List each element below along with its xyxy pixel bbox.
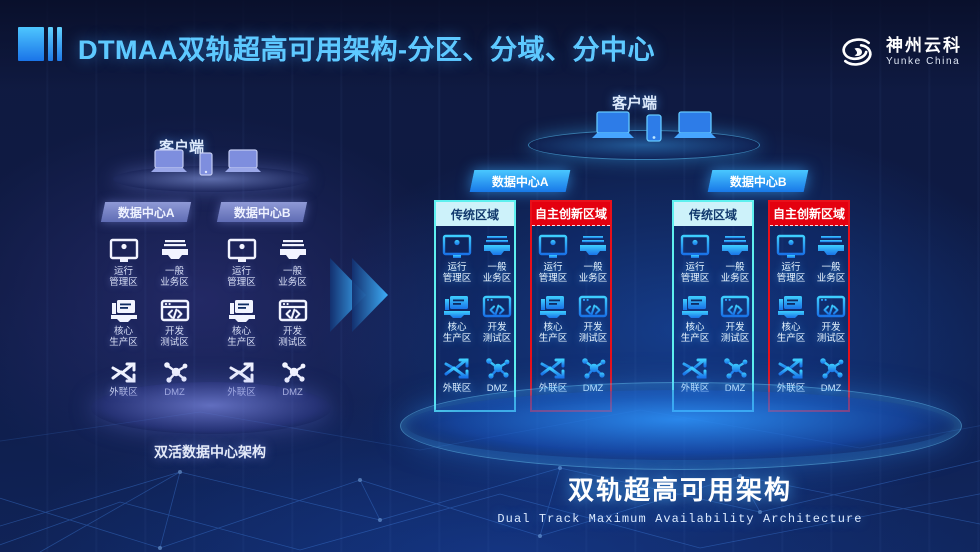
database-doc-icon [442,294,472,320]
inbox-tray-icon [720,234,750,260]
node-cluster-icon [278,359,308,385]
laptop-icon [149,148,189,176]
zone-item[interactable]: 一般 业务区 [814,234,848,284]
dc-a-traditional-column: 传统区域 运行 管理区一般 业务区核心 生产区开发 测试区外联区DMZ [434,200,516,412]
zone-item[interactable]: 外联区 [440,355,474,395]
brand-logo: 神州云科 Yunke China [837,32,962,72]
dc-a-innovation-zones: 运行 管理区一般 业务区核心 生产区开发 测试区外联区DMZ [536,234,610,394]
code-window-icon [482,294,512,320]
dc-b-innovation-title: 自主创新区域 [770,202,848,226]
right-base-ring [400,382,962,470]
dc-a-innovation-title: 自主创新区域 [532,202,610,226]
dc-b-traditional-column: 传统区域 运行 管理区一般 业务区核心 生产区开发 测试区外联区DMZ [672,200,754,412]
zone-item[interactable]: 运行 管理区 [678,234,712,284]
monitor-user-icon [776,234,806,260]
zone-label: 开发 测试区 [721,323,750,344]
zone-item[interactable]: 一般 业务区 [718,234,752,284]
laptop-icon [672,110,718,142]
zone-label: 运行 管理区 [227,267,256,288]
zone-label: 外联区 [443,384,472,395]
brand-name-cn: 神州云科 [886,37,962,55]
zone-item[interactable]: 核心 生产区 [536,294,570,344]
right-dc-a-badge: 数据中心A [470,170,571,192]
inbox-tray-icon [278,238,308,264]
zone-item[interactable]: DMZ [480,355,514,395]
zone-item[interactable]: 核心 生产区 [440,294,474,344]
monitor-user-icon [680,234,710,260]
inbox-tray-icon [482,234,512,260]
zone-item[interactable]: 开发 测试区 [270,298,315,348]
zone-label: 运行 管理区 [777,263,806,284]
zone-label: 开发 测试区 [160,327,189,348]
slide-header: DTMAA双轨超高可用架构-分区、分域、分中心 神州云科 Yunke China [0,18,980,70]
zone-label: 一般 业务区 [817,263,846,284]
zone-label: 运行 管理区 [681,263,710,284]
double-chevron-right-icon [326,252,392,338]
zone-label: 核心 生产区 [227,327,256,348]
inbox-tray-icon [160,238,190,264]
right-caption-cn: 双轨超高可用架构 [430,470,930,507]
code-window-icon [816,294,846,320]
database-doc-icon [776,294,806,320]
zone-item[interactable]: 一般 业务区 [270,238,315,288]
left-dc-b-badge: 数据中心B [217,202,307,222]
zone-label: 开发 测试区 [483,323,512,344]
zone-label: 核心 生产区 [539,323,568,344]
legacy-architecture-group: 客户端 数据中心A 数据中心B 运行 管理区一般 业务区核心 生产区开发 测试区… [95,130,325,460]
network-arrows-icon [776,355,806,381]
zone-label: 一般 业务区 [160,267,189,288]
zone-label: 运行 管理区 [443,263,472,284]
zone-label: 一般 业务区 [278,267,307,288]
code-window-icon [278,298,308,324]
left-dc-b-zones: 运行 管理区一般 业务区核心 生产区开发 测试区外联区DMZ [219,238,315,398]
phone-icon [646,114,662,142]
zone-item[interactable]: 核心 生产区 [219,298,264,348]
code-window-icon [720,294,750,320]
title-marker-icon [18,26,62,62]
right-caption: 双轨超高可用架构 Dual Track Maximum Availability… [430,470,930,526]
dc-a-traditional-title: 传统区域 [436,202,514,226]
page-title: DTMAA双轨超高可用架构-分区、分域、分中心 [78,28,655,67]
zone-item[interactable]: 运行 管理区 [219,238,264,288]
left-dc-b-badge-label: 数据中心B [234,204,291,221]
zone-item[interactable]: 一般 业务区 [576,234,610,284]
zone-label: 开发 测试区 [579,323,608,344]
network-arrows-icon [538,355,568,381]
zone-item[interactable]: 核心 生产区 [101,298,146,348]
zone-item[interactable]: 开发 测试区 [814,294,848,344]
right-dc-b-badge-label: 数据中心B [730,173,787,190]
zone-label: 运行 管理区 [109,267,138,288]
monitor-user-icon [538,234,568,260]
right-caption-en: Dual Track Maximum Availability Architec… [430,512,930,526]
node-cluster-icon [816,355,846,381]
zone-item[interactable]: 开发 测试区 [152,298,197,348]
zone-item[interactable]: 运行 管理区 [774,234,808,284]
zone-label: 开发 测试区 [817,323,846,344]
dc-b-innovation-zones: 运行 管理区一般 业务区核心 生产区开发 测试区外联区DMZ [774,234,848,394]
brand-name-en: Yunke China [886,57,962,68]
laptop-icon [223,148,263,176]
zone-label: 一般 业务区 [483,263,512,284]
zone-label: 核心 生产区 [681,323,710,344]
left-dc-a-badge-label: 数据中心A [118,204,175,221]
zone-item[interactable]: 开发 测试区 [576,294,610,344]
zone-item[interactable]: 核心 生产区 [774,294,808,344]
monitor-user-icon [227,238,257,264]
zone-item[interactable]: 开发 测试区 [718,294,752,344]
node-cluster-icon [720,355,750,381]
left-caption: 双活数据中心架构 [95,442,325,462]
left-base-platform [91,382,331,434]
galaxy-swirl-icon [837,32,877,72]
right-dc-b-badge: 数据中心B [708,170,809,192]
zone-label: 核心 生产区 [443,323,472,344]
dc-b-traditional-zones: 运行 管理区一般 业务区核心 生产区开发 测试区外联区DMZ [678,234,752,394]
zone-label: 开发 测试区 [278,327,307,348]
monitor-user-icon [442,234,472,260]
inbox-tray-icon [578,234,608,260]
code-window-icon [578,294,608,320]
inbox-tray-icon [816,234,846,260]
database-doc-icon [227,298,257,324]
left-client-devices [149,148,263,176]
zone-item[interactable]: 核心 生产区 [678,294,712,344]
zone-label: 核心 生产区 [777,323,806,344]
zone-item[interactable]: 一般 业务区 [152,238,197,288]
zone-item[interactable]: 运行 管理区 [440,234,474,284]
zone-label: 一般 业务区 [579,263,608,284]
database-doc-icon [109,298,139,324]
dual-track-architecture-group: 客户端 数据中心A 数据中心B 传统区域 运行 管理区一般 业务区核心 生 [400,82,960,482]
zone-item[interactable]: 开发 测试区 [480,294,514,344]
zone-item[interactable]: 一般 业务区 [480,234,514,284]
monitor-user-icon [109,238,139,264]
zone-item[interactable]: 运行 管理区 [536,234,570,284]
slide-canvas: DTMAA双轨超高可用架构-分区、分域、分中心 神州云科 Yunke China… [0,0,980,552]
laptop-icon [590,110,636,142]
dc-a-innovation-column: 自主创新区域 运行 管理区一般 业务区核心 生产区开发 测试区外联区DMZ [530,200,612,412]
node-cluster-icon [578,355,608,381]
dc-b-innovation-column: 自主创新区域 运行 管理区一般 业务区核心 生产区开发 测试区外联区DMZ [768,200,850,412]
network-arrows-icon [109,359,139,385]
zone-label: 核心 生产区 [109,327,138,348]
left-dc-a-badge: 数据中心A [101,202,191,222]
database-doc-icon [680,294,710,320]
database-doc-icon [538,294,568,320]
code-window-icon [160,298,190,324]
dc-b-traditional-title: 传统区域 [674,202,752,226]
phone-icon [199,152,213,176]
zone-item[interactable]: 运行 管理区 [101,238,146,288]
network-arrows-icon [680,355,710,381]
right-client-devices [590,110,718,142]
zone-label: 一般 业务区 [721,263,750,284]
zone-label: 运行 管理区 [539,263,568,284]
right-dc-a-badge-label: 数据中心A [492,173,549,190]
dc-a-traditional-zones: 运行 管理区一般 业务区核心 生产区开发 测试区外联区DMZ [440,234,514,394]
left-dc-a-zones: 运行 管理区一般 业务区核心 生产区开发 测试区外联区DMZ [101,238,197,398]
node-cluster-icon [160,359,190,385]
node-cluster-icon [482,355,512,381]
network-arrows-icon [227,359,257,385]
network-arrows-icon [442,355,472,381]
